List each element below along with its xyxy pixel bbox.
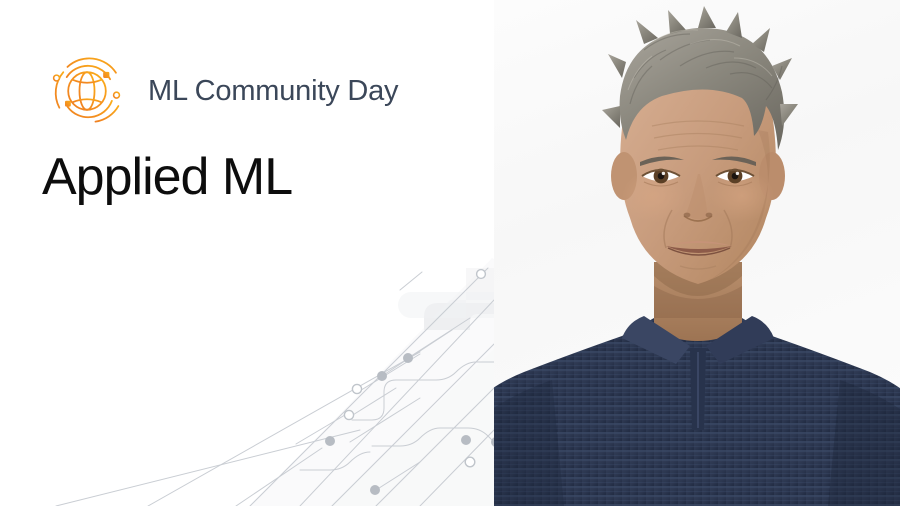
- brand-name: ML Community Day: [148, 77, 398, 106]
- globe-orbit-icon: [40, 44, 134, 138]
- slide-left-panel: ML Community Day Applied ML: [0, 0, 494, 506]
- presentation-slide: ML Community Day Applied ML Speaker head…: [0, 0, 900, 506]
- speaker-portrait-image: Speaker headshot: [494, 0, 900, 506]
- page-title: Applied ML: [42, 148, 292, 208]
- brand-lockup: ML Community Day: [40, 44, 398, 138]
- speaker-portrait: Speaker headshot: [494, 0, 900, 506]
